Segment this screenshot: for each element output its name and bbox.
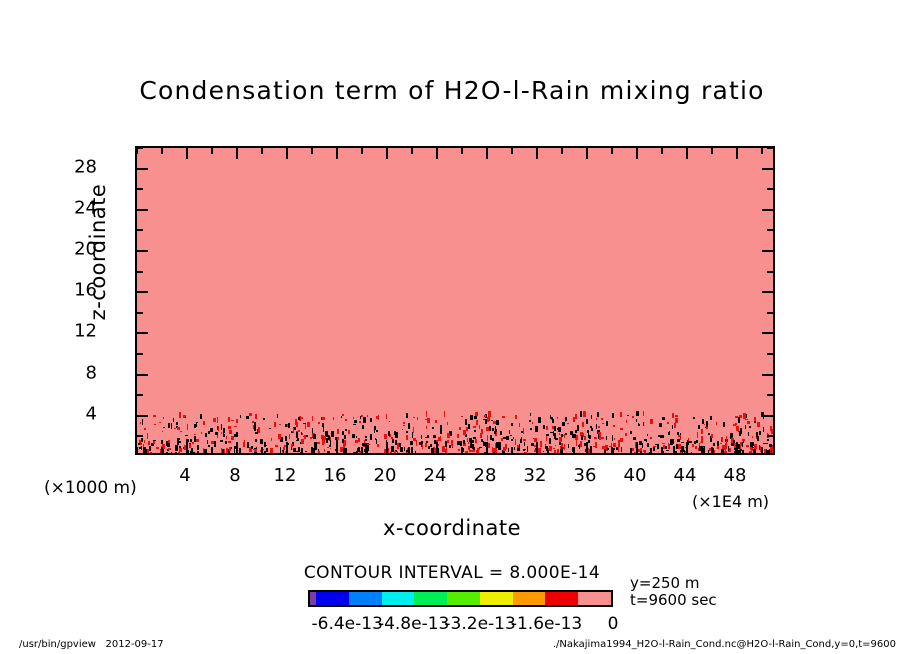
contour-mark bbox=[280, 439, 281, 442]
x-tick-label: 32 bbox=[524, 465, 547, 486]
contour-mark bbox=[630, 448, 632, 454]
contour-mark bbox=[511, 423, 513, 426]
x-tick-mark bbox=[261, 447, 263, 453]
contour-mark bbox=[156, 447, 159, 449]
y-tick-mark bbox=[137, 229, 143, 231]
contour-mark bbox=[300, 452, 302, 454]
contour-mark bbox=[692, 444, 694, 447]
contour-mark bbox=[274, 422, 276, 427]
contour-mark bbox=[312, 416, 313, 421]
colorbar-swatch bbox=[447, 592, 480, 605]
y-tick-mark bbox=[767, 435, 773, 437]
contour-mark bbox=[728, 446, 729, 451]
contour-mark bbox=[370, 418, 372, 422]
contour-mark bbox=[324, 449, 325, 452]
contour-mark bbox=[604, 449, 606, 453]
contour-mark bbox=[438, 448, 439, 454]
contour-mark bbox=[630, 431, 632, 434]
contour-mark bbox=[293, 427, 296, 430]
contour-mark bbox=[743, 450, 744, 454]
contour-mark bbox=[348, 430, 350, 434]
contour-mark bbox=[537, 428, 538, 432]
contour-mark bbox=[153, 415, 156, 417]
contour-mark bbox=[288, 423, 290, 428]
contour-mark bbox=[555, 445, 556, 446]
contour-mark bbox=[546, 426, 548, 430]
contour-mark bbox=[266, 448, 268, 452]
x-tick-label: 20 bbox=[374, 465, 397, 486]
contour-mark bbox=[413, 417, 415, 418]
contour-mark bbox=[618, 447, 619, 452]
contour-mark bbox=[540, 441, 542, 447]
contour-mark bbox=[672, 425, 673, 429]
contour-mark bbox=[318, 451, 320, 453]
contour-mark bbox=[508, 448, 509, 452]
contour-mark bbox=[417, 417, 418, 420]
contour-mark bbox=[458, 449, 460, 451]
y-tick-label: 24 bbox=[74, 197, 97, 218]
contour-mark bbox=[400, 447, 403, 452]
contour-mark bbox=[162, 431, 163, 432]
contour-mark bbox=[547, 450, 549, 454]
contour-mark bbox=[358, 438, 360, 442]
time-label: t=9600 sec bbox=[630, 591, 717, 609]
contour-mark bbox=[214, 441, 216, 447]
contour-mark bbox=[270, 448, 273, 453]
contour-mark bbox=[421, 441, 422, 446]
contour-mark bbox=[678, 435, 681, 437]
contour-mark bbox=[177, 427, 180, 430]
contour-mark bbox=[596, 424, 597, 429]
contour-mark bbox=[519, 423, 520, 427]
x-tick-mark bbox=[136, 148, 138, 154]
x-tick-label: 12 bbox=[274, 465, 297, 486]
contour-mark bbox=[285, 436, 287, 441]
contour-mark bbox=[524, 442, 525, 446]
contour-mark bbox=[599, 434, 601, 440]
x-tick-mark bbox=[761, 148, 763, 154]
contour-mark bbox=[632, 416, 634, 418]
x-tick-mark bbox=[336, 148, 338, 159]
contour-mark bbox=[231, 436, 234, 440]
contour-mark bbox=[215, 432, 218, 435]
y-tick-mark bbox=[762, 374, 773, 376]
x-tick-mark bbox=[236, 148, 238, 159]
contour-mark bbox=[773, 433, 774, 439]
contour-mark bbox=[567, 423, 569, 424]
contour-mark bbox=[711, 434, 713, 438]
x-tick-mark bbox=[711, 148, 713, 154]
contour-mark bbox=[402, 429, 403, 430]
contour-mark bbox=[390, 452, 392, 454]
x-tick-mark bbox=[286, 442, 288, 453]
x-tick-mark bbox=[486, 148, 488, 159]
contour-mark bbox=[389, 421, 390, 422]
y-tick-mark bbox=[767, 353, 773, 355]
contour-mark bbox=[468, 424, 470, 429]
contour-mark bbox=[192, 442, 194, 444]
contour-mark bbox=[438, 437, 441, 441]
contour-mark bbox=[627, 415, 629, 416]
x-tick-label: 8 bbox=[229, 465, 240, 486]
contour-mark bbox=[639, 424, 640, 426]
contour-mark bbox=[291, 444, 293, 447]
contour-mark bbox=[505, 444, 507, 449]
contour-mark bbox=[750, 442, 753, 447]
contour-mark bbox=[493, 421, 496, 424]
contour-mark bbox=[314, 445, 317, 450]
contour-mark bbox=[254, 449, 257, 452]
contour-mark bbox=[474, 430, 476, 432]
contour-mark bbox=[565, 433, 567, 435]
contour-mark bbox=[748, 432, 749, 436]
contour-mark bbox=[698, 425, 700, 429]
contour-mark bbox=[552, 419, 554, 423]
contour-mark bbox=[180, 431, 182, 432]
contour-mark bbox=[721, 449, 724, 454]
contour-mark bbox=[616, 447, 618, 450]
contour-mark bbox=[154, 424, 156, 425]
contour-mark bbox=[353, 452, 356, 454]
contour-mark bbox=[404, 447, 405, 451]
x-tick-mark bbox=[561, 148, 563, 154]
contour-mark bbox=[307, 422, 310, 427]
contour-mark bbox=[723, 422, 725, 427]
contour-mark bbox=[470, 415, 473, 420]
contour-mark bbox=[280, 447, 281, 453]
contour-mark bbox=[174, 428, 176, 429]
x-tick-mark bbox=[186, 148, 188, 159]
contour-mark bbox=[388, 431, 390, 436]
contour-mark bbox=[449, 445, 451, 448]
contour-mark bbox=[300, 417, 303, 419]
contour-mark bbox=[282, 451, 283, 453]
contour-mark bbox=[489, 426, 491, 431]
x-axis-ticks: 4812162024283236404448 bbox=[135, 455, 775, 495]
x-tick-mark bbox=[386, 148, 388, 159]
contour-mark bbox=[176, 422, 178, 425]
contour-mark bbox=[699, 443, 700, 446]
contour-mark bbox=[249, 413, 252, 416]
contour-mark bbox=[568, 444, 569, 448]
contour-mark bbox=[583, 411, 586, 417]
contour-mark bbox=[509, 430, 510, 434]
contour-mark bbox=[674, 423, 676, 428]
contour-mark bbox=[171, 423, 172, 429]
contour-mark bbox=[194, 436, 196, 442]
contour-mark bbox=[197, 422, 198, 423]
y-tick-mark bbox=[137, 435, 143, 437]
contour-mark bbox=[179, 441, 181, 443]
x-tick-label: 4 bbox=[179, 465, 190, 486]
contour-mark bbox=[221, 424, 222, 430]
contour-mark bbox=[342, 414, 344, 416]
contour-mark bbox=[500, 431, 502, 435]
contour-mark bbox=[774, 439, 775, 445]
x-tick-mark bbox=[286, 148, 288, 159]
contour-mark bbox=[406, 435, 408, 440]
y-tick-mark bbox=[767, 394, 773, 396]
contour-mark bbox=[535, 428, 537, 432]
contour-mark bbox=[433, 435, 436, 438]
contour-mark bbox=[461, 416, 463, 417]
contour-mark bbox=[190, 451, 191, 453]
contour-mark bbox=[503, 437, 506, 439]
contour-mark bbox=[764, 449, 766, 454]
contour-mark bbox=[435, 420, 437, 423]
contour-mark bbox=[352, 434, 355, 438]
x-tick-mark bbox=[536, 148, 538, 159]
contour-mark bbox=[515, 415, 517, 419]
contour-mark bbox=[297, 438, 299, 441]
contour-mark bbox=[725, 448, 726, 451]
x-axis-title: x-coordinate bbox=[0, 516, 904, 540]
contour-mark bbox=[476, 420, 478, 425]
contour-mark bbox=[408, 423, 410, 429]
contour-mark bbox=[487, 435, 488, 441]
contour-mark bbox=[310, 437, 312, 439]
contour-mark bbox=[565, 417, 567, 421]
contour-mark bbox=[557, 428, 559, 430]
contour-mark bbox=[312, 428, 313, 433]
contour-mark bbox=[559, 433, 560, 435]
x-tick-mark bbox=[686, 148, 688, 159]
contour-mark bbox=[217, 417, 218, 423]
contour-mark bbox=[344, 435, 346, 439]
contour-mark bbox=[392, 439, 394, 443]
contour-mark bbox=[200, 414, 202, 419]
contour-mark bbox=[342, 431, 344, 435]
contour-mark bbox=[258, 427, 260, 433]
contour-mark bbox=[602, 423, 604, 424]
contour-mark bbox=[229, 447, 231, 451]
y-tick-mark bbox=[137, 415, 148, 417]
contour-mark bbox=[413, 438, 416, 441]
contour-mark bbox=[391, 437, 393, 439]
contour-mark bbox=[740, 428, 742, 434]
contour-mark bbox=[231, 420, 234, 421]
contour-mark bbox=[153, 441, 155, 444]
contour-mark bbox=[506, 436, 509, 440]
contour-mark bbox=[397, 451, 398, 453]
contour-mark bbox=[636, 419, 637, 422]
y-tick-mark bbox=[762, 168, 773, 170]
contour-mark bbox=[479, 447, 482, 448]
contour-mark bbox=[187, 424, 188, 430]
x-tick-mark bbox=[186, 442, 188, 453]
contour-mark bbox=[353, 424, 356, 425]
contour-mark bbox=[201, 432, 202, 434]
contour-mark bbox=[663, 445, 665, 449]
contour-mark bbox=[754, 421, 756, 423]
x-tick-mark bbox=[636, 442, 638, 453]
contour-mark bbox=[330, 448, 331, 449]
contour-mark bbox=[229, 430, 232, 434]
contour-mark bbox=[483, 419, 485, 420]
contour-mark bbox=[301, 439, 304, 444]
contour-mark bbox=[177, 438, 180, 440]
contour-mark bbox=[444, 411, 445, 417]
contour-mark bbox=[234, 426, 237, 427]
contour-mark bbox=[225, 441, 227, 444]
contour-mark bbox=[563, 435, 565, 436]
contour-mark bbox=[147, 449, 149, 453]
contour-mark bbox=[333, 417, 334, 420]
contour-mark bbox=[426, 411, 427, 417]
contour-mark bbox=[694, 441, 696, 444]
contour-mark bbox=[353, 417, 354, 419]
contour-mark bbox=[672, 439, 674, 442]
y-tick-mark bbox=[137, 209, 148, 211]
contour-mark bbox=[502, 416, 505, 418]
contour-mark bbox=[668, 444, 670, 449]
contour-mark bbox=[208, 431, 210, 434]
contour-mark bbox=[183, 447, 184, 449]
y-tick-mark bbox=[762, 291, 773, 293]
colorbar-swatch bbox=[382, 592, 415, 605]
contour-mark bbox=[479, 425, 480, 429]
contour-mark bbox=[575, 414, 577, 419]
contour-mark bbox=[580, 411, 582, 417]
contour-mark bbox=[646, 439, 647, 442]
contour-mark bbox=[236, 432, 238, 437]
x-tick-mark bbox=[636, 148, 638, 159]
contour-mark bbox=[767, 439, 769, 441]
contour-mark bbox=[228, 441, 231, 443]
x-tick-mark bbox=[736, 148, 738, 159]
contour-mark bbox=[591, 415, 592, 419]
contour-mark bbox=[496, 420, 499, 425]
contour-mark bbox=[140, 444, 142, 445]
contour-mark bbox=[313, 434, 316, 439]
contour-mark bbox=[466, 427, 468, 431]
x-tick-mark bbox=[661, 447, 663, 453]
colorbar-swatch bbox=[545, 592, 578, 605]
contour-mark bbox=[345, 448, 347, 453]
colorbar-swatch bbox=[578, 592, 611, 605]
contour-mark bbox=[403, 425, 405, 426]
x-tick-mark bbox=[711, 447, 713, 453]
contour-mark bbox=[163, 427, 165, 428]
contour-mark bbox=[386, 414, 387, 419]
y-tick-mark bbox=[762, 332, 773, 334]
contour-mark bbox=[749, 451, 752, 454]
colorbar-tick-labels: -6.4e-13-4.8e-13-3.2e-13-1.6e-130 bbox=[308, 610, 613, 632]
contour-mark bbox=[196, 422, 197, 427]
contour-mark bbox=[269, 428, 271, 429]
contour-mark bbox=[421, 435, 422, 439]
contour-mark bbox=[626, 420, 627, 423]
contour-mark bbox=[726, 436, 727, 442]
contour-mark bbox=[367, 415, 368, 417]
contour-mark bbox=[171, 452, 172, 453]
contour-mark bbox=[620, 438, 623, 442]
contour-mark bbox=[296, 432, 298, 438]
contour-mark bbox=[696, 440, 698, 443]
contour-mark bbox=[613, 425, 615, 427]
y-tick-label: 28 bbox=[74, 156, 97, 177]
contour-mark bbox=[221, 432, 222, 434]
contour-mark bbox=[305, 424, 306, 429]
contour-overlay bbox=[137, 148, 773, 453]
contour-mark bbox=[650, 419, 653, 424]
contour-mark bbox=[149, 446, 151, 451]
contour-mark bbox=[175, 445, 178, 451]
y-tick-label: 8 bbox=[86, 362, 97, 383]
contour-mark bbox=[633, 437, 636, 440]
contour-mark bbox=[695, 446, 697, 449]
contour-mark bbox=[523, 449, 525, 451]
contour-mark bbox=[265, 445, 267, 446]
contour-mark bbox=[226, 436, 227, 439]
contour-mark bbox=[374, 427, 375, 433]
contour-mark bbox=[650, 437, 652, 439]
x-tick-label: 16 bbox=[324, 465, 347, 486]
contour-mark bbox=[681, 442, 684, 443]
contour-mark bbox=[179, 412, 181, 418]
contour-mark bbox=[721, 437, 723, 442]
contour-mark bbox=[440, 425, 442, 431]
contour-mark bbox=[427, 435, 429, 438]
contour-mark bbox=[363, 417, 366, 423]
contour-mark bbox=[175, 452, 177, 453]
contour-mark bbox=[168, 448, 171, 450]
contour-mark bbox=[675, 451, 677, 454]
contour-mark bbox=[465, 451, 468, 453]
contour-mark bbox=[640, 448, 642, 451]
contour-mark bbox=[749, 426, 751, 428]
contour-mark bbox=[228, 417, 230, 422]
contour-mark bbox=[746, 445, 749, 447]
contour-mark bbox=[150, 452, 152, 453]
contour-mark bbox=[279, 424, 281, 425]
contour-mark bbox=[733, 440, 735, 443]
x-tick-mark bbox=[311, 148, 313, 154]
contour-mark bbox=[205, 433, 207, 437]
contour-mark bbox=[697, 432, 698, 438]
contour-mark bbox=[662, 443, 665, 444]
x-tick-mark bbox=[461, 148, 463, 154]
contour-mark bbox=[743, 413, 746, 419]
contour-mark bbox=[473, 426, 476, 428]
contour-mark bbox=[639, 441, 642, 445]
contour-mark bbox=[469, 450, 472, 452]
contour-mark bbox=[492, 438, 494, 441]
contour-mark bbox=[574, 434, 576, 438]
contour-mark bbox=[247, 442, 249, 448]
colorbar-tick-label: 0 bbox=[608, 614, 619, 634]
x-tick-mark bbox=[436, 442, 438, 453]
contour-mark bbox=[142, 419, 143, 425]
contour-mark bbox=[757, 436, 759, 441]
contour-mark bbox=[717, 446, 719, 449]
x-tick-mark bbox=[161, 148, 163, 154]
x-tick-mark bbox=[586, 442, 588, 453]
contour-mark bbox=[204, 449, 207, 454]
contour-mark bbox=[197, 451, 199, 454]
contour-mark bbox=[356, 436, 357, 438]
contour-mark bbox=[666, 450, 669, 451]
contour-mark bbox=[763, 427, 764, 432]
colorbar-swatch bbox=[414, 592, 447, 605]
contour-mark bbox=[549, 446, 552, 451]
contour-mark bbox=[159, 422, 161, 423]
footer-source: ./Nakajima1994_H2O-l-Rain_Cond.nc@H2O-l-… bbox=[553, 639, 896, 650]
contour-mark bbox=[675, 415, 678, 417]
contour-mark bbox=[704, 424, 705, 425]
contour-mark bbox=[620, 412, 622, 417]
contour-mark bbox=[337, 437, 339, 440]
